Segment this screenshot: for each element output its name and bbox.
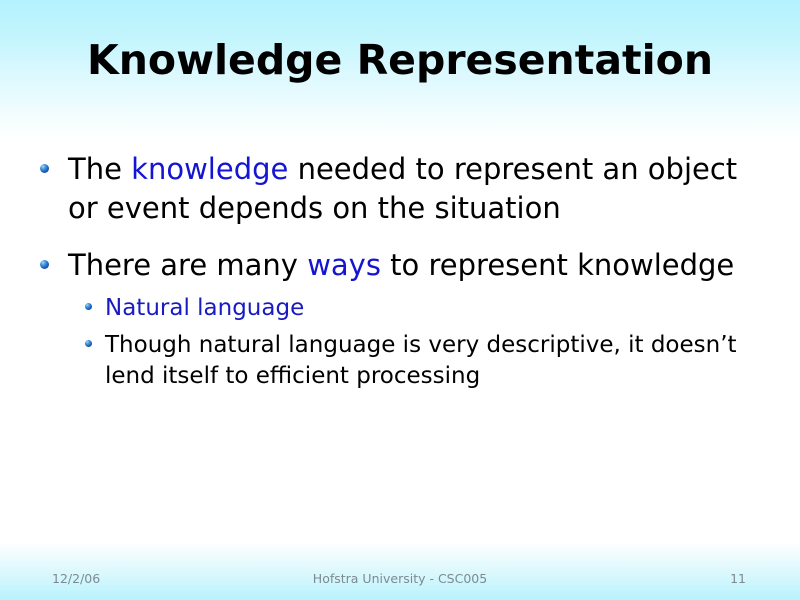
blue-sphere-sub-bullet-icon [85,303,92,310]
slide-body: The knowledge needed to represent an obj… [40,150,770,392]
sub-bullet-item-2: Though natural language is very descript… [85,330,770,392]
bullet-text-2: There are many ways to represent knowled… [68,246,734,285]
bullet-item-1: The knowledge needed to represent an obj… [40,150,770,228]
bullet-2-part-3: to represent knowledge [381,248,734,282]
footer-page-number: 11 [730,571,746,586]
bullet-2-keyword: ways [307,248,381,282]
sub-bullet-text-1: Natural language [105,293,304,324]
spacer [40,228,770,246]
slide-footer: 12/2/06 Hofstra University - CSC005 11 [0,562,800,600]
blue-sphere-bullet-icon [40,164,49,173]
bullet-2-part-1: There are many [68,248,307,282]
bullet-1-keyword: knowledge [131,152,288,186]
bullet-1-part-1: The [68,152,131,186]
footer-course-label: Hofstra University - CSC005 [0,571,800,586]
blue-sphere-sub-bullet-icon [85,340,92,347]
sub-bullet-item-1: Natural language [85,293,770,324]
slide-title: Knowledge Representation [0,36,800,84]
blue-sphere-bullet-icon [40,260,49,269]
bullet-text-1: The knowledge needed to represent an obj… [68,150,770,228]
bullet-item-2: There are many ways to represent knowled… [40,246,770,285]
spacer [40,285,770,293]
sub-bullet-text-2: Though natural language is very descript… [105,330,770,392]
sub-bullet-list: Natural language Though natural language… [85,293,770,392]
presentation-slide: Knowledge Representation The knowledge n… [0,0,800,600]
